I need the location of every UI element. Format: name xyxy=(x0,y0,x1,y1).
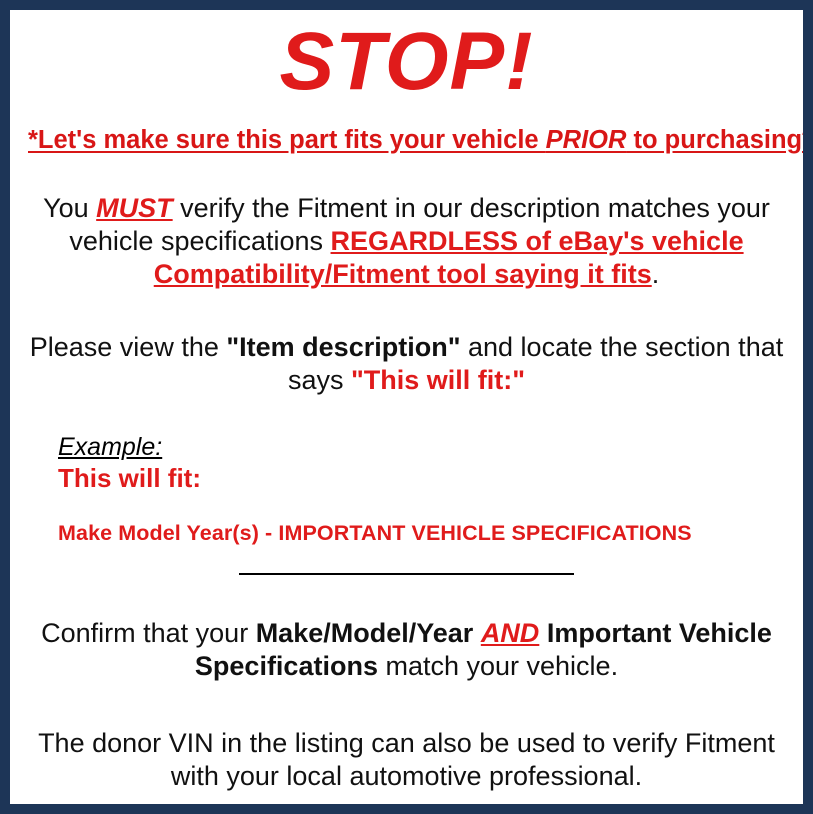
section-divider-wrap xyxy=(28,573,785,575)
example-fit-heading: This will fit: xyxy=(58,463,785,494)
must-seg-1: You xyxy=(43,193,96,223)
fitment-tagline: *Let's make sure this part fits your veh… xyxy=(28,126,785,155)
paragraph-confirm: Confirm that your Make/Model/Year AND Im… xyxy=(28,617,785,683)
must-seg-5: . xyxy=(652,259,660,289)
view-seg-1: Please view the xyxy=(30,332,227,362)
confirm-seg-3 xyxy=(473,618,481,648)
paragraph-donor-vin: The donor VIN in the listing can also be… xyxy=(28,727,785,793)
item-description-emphasis: "Item description" xyxy=(226,332,460,362)
make-model-year-emphasis: Make/Model/Year xyxy=(256,618,474,648)
and-emphasis: AND xyxy=(481,618,540,648)
tagline-emphasis-prior: PRIOR xyxy=(546,126,627,154)
example-block: Example: This will fit: Make Model Year(… xyxy=(28,433,785,547)
paragraph-item-description: Please view the "Item description" and l… xyxy=(28,331,785,397)
paragraph-must-verify: You MUST verify the Fitment in our descr… xyxy=(28,192,785,291)
fitment-notice-card: STOP! *Let's make sure this part fits yo… xyxy=(0,0,813,814)
tagline-text-after: to purchasing* xyxy=(626,126,812,154)
tagline-text-before: *Let's make sure this part fits your veh… xyxy=(28,126,546,154)
confirm-seg-1: Confirm that your xyxy=(41,618,256,648)
must-emphasis: MUST xyxy=(96,193,173,223)
notice-inner-panel: STOP! *Let's make sure this part fits yo… xyxy=(10,10,803,804)
example-label: Example: xyxy=(58,433,162,463)
section-divider xyxy=(239,573,574,575)
confirm-seg-7: match your vehicle. xyxy=(378,651,618,681)
example-spec-line: Make Model Year(s) - IMPORTANT VEHICLE S… xyxy=(58,521,785,547)
example-label-row: Example: xyxy=(58,433,785,463)
stop-heading: STOP! xyxy=(28,14,785,104)
confirm-seg-5 xyxy=(539,618,547,648)
this-will-fit-emphasis: "This will fit:" xyxy=(351,365,525,395)
